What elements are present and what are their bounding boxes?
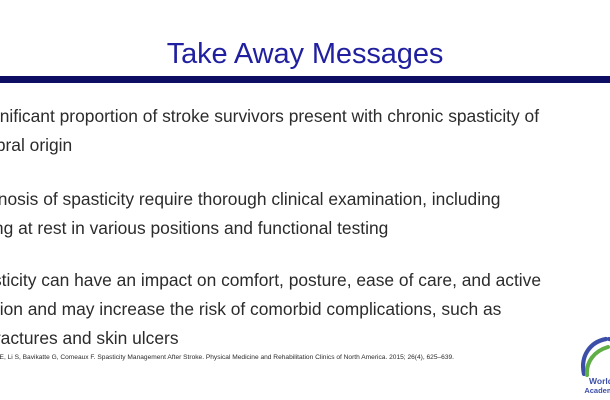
bullet-paragraph-2: Diagnosis of spasticity require thorough… (0, 185, 610, 243)
bullet-paragraph-3: Spasticity can have an impact on comfort… (0, 266, 610, 353)
slide-canvas: Take Away Messages A significant proport… (0, 0, 610, 400)
page-title: Take Away Messages (167, 34, 444, 74)
title-divider-rule (0, 76, 610, 83)
citation-footnote: Francisco GE, Li S, Bavikatte G, Comeaux… (0, 353, 604, 362)
logo-wordmark: World Academy (570, 376, 610, 396)
slide-title-container: Take Away Messages (0, 34, 610, 78)
slide-body: A significant proportion of stroke survi… (0, 98, 610, 343)
logo-line-2: Academy (570, 386, 610, 396)
bullet-paragraph-1: A significant proportion of stroke survi… (0, 102, 610, 160)
world-academy-arc-icon (570, 336, 610, 378)
organization-logo: World Academy (570, 336, 610, 398)
logo-line-1: World (589, 376, 610, 386)
